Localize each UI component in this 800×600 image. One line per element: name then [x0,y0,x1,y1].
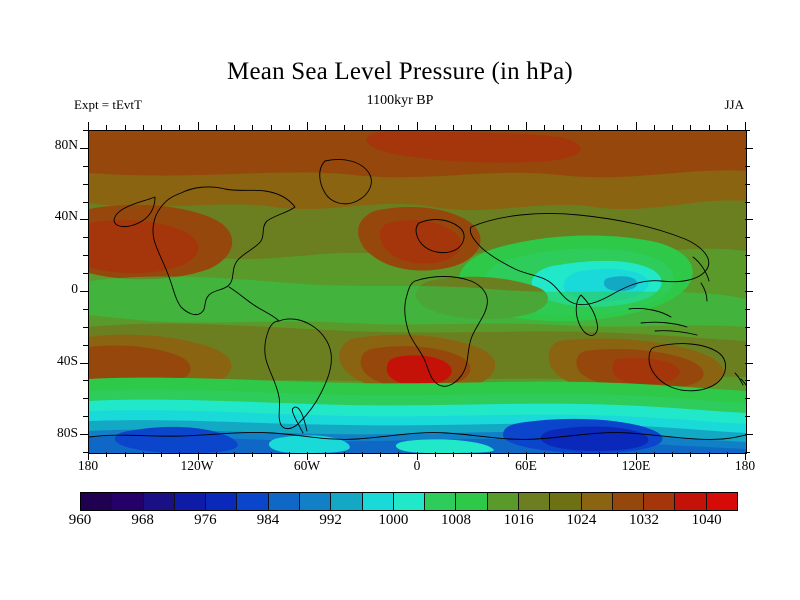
figure-canvas: Mean Sea Level Pressure (in hPa) 1100kyr… [0,0,800,600]
axis-tick [745,327,750,328]
colorbar-swatch [644,493,675,510]
axis-tick [88,452,89,460]
colorbar-tick-label: 1032 [614,512,674,529]
axis-tick [289,452,290,457]
axis-tick [490,452,491,457]
axis-tick [490,125,491,130]
colorbar-swatch [582,493,613,510]
axis-tick [435,125,436,130]
axis-tick [745,255,750,256]
axis-tick [526,452,527,460]
axis-tick [544,125,545,130]
axis-tick [271,452,272,457]
axis-tick [179,452,180,457]
y-tick-label-40s: 40S [32,353,78,369]
axis-tick [709,125,710,130]
axis-tick [83,184,88,185]
axis-tick [106,452,107,457]
axis-tick [80,434,88,435]
colorbar-tick-label: 968 [113,512,173,529]
colorbar-labels: 960968976984992100010081016102410321040 [0,512,800,536]
axis-tick [362,452,363,457]
axis-tick [344,452,345,457]
axis-tick [745,202,750,203]
colorbar-swatch [81,493,112,510]
colorbar-swatch [363,493,394,510]
axis-tick [745,237,750,238]
axis-tick [745,452,746,460]
axis-tick [80,291,88,292]
axis-tick [672,125,673,130]
axis-tick [161,125,162,130]
axis-tick [83,166,88,167]
axis-tick [88,122,89,130]
axis-tick [654,452,655,457]
axis-tick [617,452,618,457]
axis-tick [325,125,326,130]
axis-tick [289,125,290,130]
axis-tick [745,345,750,346]
axis-tick [380,452,381,457]
axis-tick [234,125,235,130]
axis-tick [654,125,655,130]
axis-tick [617,125,618,130]
axis-tick [563,125,564,130]
axis-tick [417,122,418,130]
axis-tick [672,452,673,457]
colorbar-swatch [394,493,425,510]
colorbar-tick-label: 1000 [363,512,423,529]
axis-tick [745,130,750,131]
axis-tick [453,125,454,130]
axis-tick [83,273,88,274]
colorbar-tick-label: 976 [175,512,235,529]
axis-tick [745,398,750,399]
axis-tick [690,452,691,457]
axis-tick [563,452,564,457]
axis-tick [83,380,88,381]
axis-tick [417,452,418,460]
axis-tick [453,452,454,457]
axis-tick [83,202,88,203]
colorbar-swatch [175,493,206,510]
axis-tick [508,452,509,457]
colorbar-swatch [144,493,175,510]
colorbar-tick-label: 1024 [551,512,611,529]
axis-tick [83,345,88,346]
axis-tick [143,125,144,130]
axis-tick [380,125,381,130]
x-tick-label-60e: 60E [491,458,561,474]
axis-tick [83,398,88,399]
axis-tick [581,125,582,130]
axis-tick [690,125,691,130]
axis-tick [745,184,750,185]
axis-tick [80,219,88,220]
axis-tick [271,125,272,130]
axis-tick [745,434,753,435]
page-title: Mean Sea Level Pressure (in hPa) [0,58,800,86]
axis-tick [143,452,144,457]
axis-tick [727,452,728,457]
axis-tick [198,452,199,460]
axis-tick [745,363,753,364]
colorbar-tick-label: 984 [238,512,298,529]
axis-tick [83,327,88,328]
axis-tick [83,130,88,131]
axis-tick [599,452,600,457]
axis-tick [307,122,308,130]
axis-tick [125,125,126,130]
colorbar-swatch [300,493,331,510]
x-tick-label-120w: 120W [162,458,232,474]
colorbar-swatch [425,493,456,510]
axis-tick [745,148,753,149]
colorbar-swatch [613,493,644,510]
axis-tick [216,452,217,457]
colorbar-swatch [112,493,143,510]
axis-tick [636,452,637,460]
colorbar-swatch [488,493,519,510]
map-plot-area [88,130,747,454]
pressure-contour-map [89,131,746,453]
axis-tick [471,452,472,457]
axis-tick [599,125,600,130]
axis-tick [398,125,399,130]
colorbar-swatch [519,493,550,510]
axis-tick [727,125,728,130]
colorbar-swatch [206,493,237,510]
axis-tick [234,452,235,457]
axis-tick [745,291,753,292]
colorbar-swatch [707,493,737,510]
axis-tick [745,166,750,167]
colorbar-swatch [269,493,300,510]
axis-tick [362,125,363,130]
axis-tick [526,122,527,130]
axis-tick [745,416,750,417]
axis-tick [216,125,217,130]
experiment-label: Expt = tEvtT [74,97,142,113]
y-tick-label-80n: 80N [32,137,78,153]
y-tick-label-40n: 40N [32,208,78,224]
axis-tick [398,452,399,457]
axis-tick [83,309,88,310]
season-label: JJA [724,97,744,113]
colorbar [80,492,738,511]
axis-tick [252,125,253,130]
axis-tick [179,125,180,130]
axis-tick [80,148,88,149]
axis-tick [344,125,345,130]
colorbar-swatch [331,493,362,510]
axis-tick [161,452,162,457]
axis-tick [325,452,326,457]
axis-tick [544,452,545,457]
colorbar-swatch [456,493,487,510]
colorbar-tick-label: 1008 [426,512,486,529]
axis-tick [125,452,126,457]
axis-tick [508,125,509,130]
x-tick-label-0: 0 [382,458,452,474]
axis-tick [636,122,637,130]
colorbar-tick-label: 1040 [677,512,737,529]
x-tick-label-180w: 180 [53,458,123,474]
colorbar-swatch [675,493,706,510]
axis-tick [471,125,472,130]
x-tick-label-180e: 180 [710,458,780,474]
x-tick-label-120e: 120E [601,458,671,474]
axis-tick [106,125,107,130]
axis-tick [745,309,750,310]
colorbar-tick-label: 992 [301,512,361,529]
axis-tick [581,452,582,457]
axis-tick [83,237,88,238]
axis-tick [198,122,199,130]
axis-tick [83,452,88,453]
axis-tick [435,452,436,457]
axis-tick [745,122,746,130]
axis-tick [83,255,88,256]
axis-tick [745,219,753,220]
colorbar-swatch [237,493,268,510]
axis-tick [80,363,88,364]
colorbar-tick-label: 1016 [489,512,549,529]
colorbar-swatch [550,493,581,510]
y-tick-label-0: 0 [32,281,78,297]
axis-tick [83,416,88,417]
y-tick-label-80s: 80S [32,425,78,441]
x-tick-label-60w: 60W [272,458,342,474]
axis-tick [745,452,750,453]
axis-tick [745,273,750,274]
colorbar-tick-label: 960 [50,512,110,529]
axis-tick [252,452,253,457]
axis-tick [307,452,308,460]
axis-tick [745,380,750,381]
axis-tick [709,452,710,457]
